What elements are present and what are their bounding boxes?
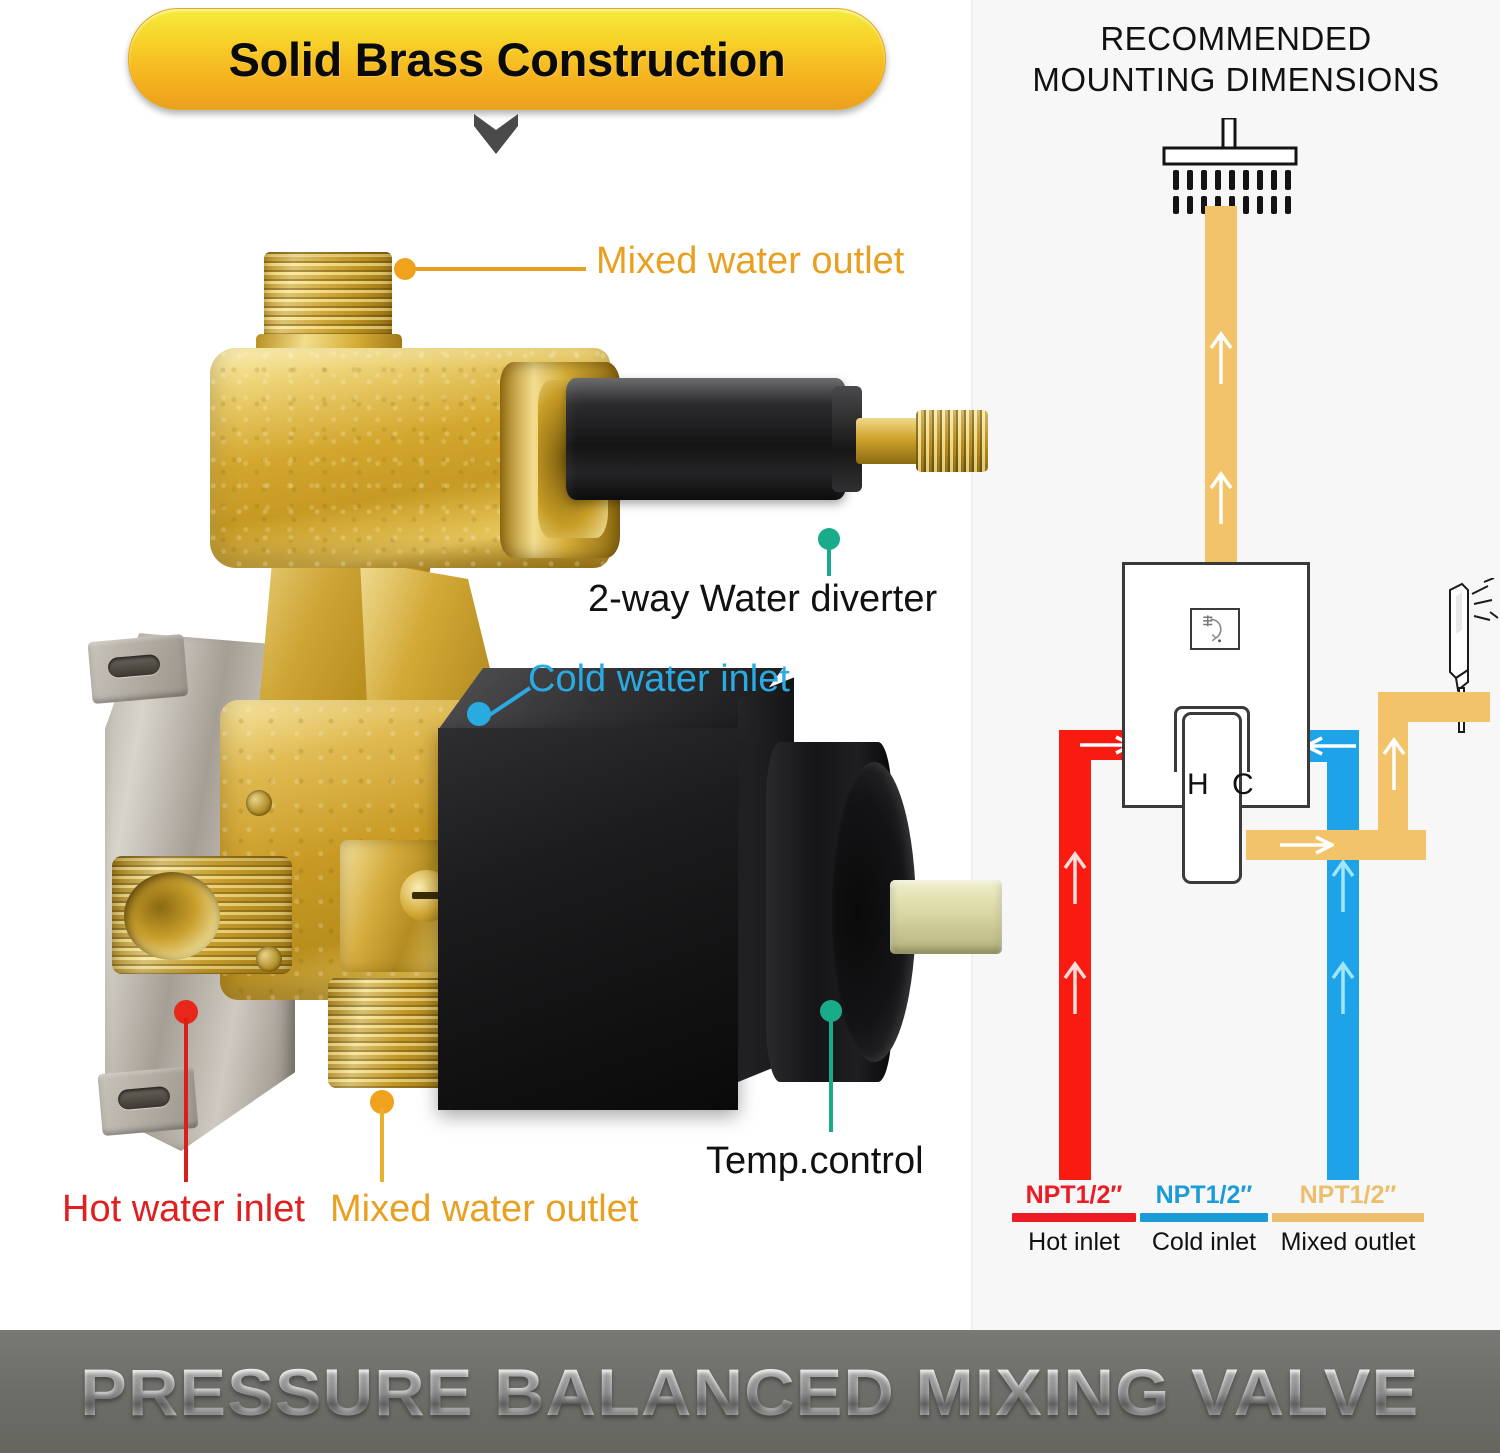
flow-arrow-riser-1 bbox=[1207, 330, 1235, 386]
legend-caption-cold: Cold inlet bbox=[1140, 1227, 1268, 1257]
callout-dot-mixed-outlet-top bbox=[394, 258, 416, 280]
top-outlet-thread bbox=[264, 252, 392, 344]
diverter-icon bbox=[1190, 608, 1240, 650]
callout-leader-mixed-outlet-top bbox=[414, 267, 586, 271]
pipe-hot-vertical bbox=[1059, 730, 1091, 1180]
callout-leader-temp-control bbox=[829, 1018, 833, 1132]
diverter-splined-shaft bbox=[916, 410, 988, 472]
legend-bar-hot bbox=[1012, 1213, 1136, 1222]
callout-label-mixed-outlet-top: Mixed water outlet bbox=[596, 240, 904, 283]
badge-label: Solid Brass Construction bbox=[229, 32, 786, 87]
callout-label-cold-inlet: Cold water inlet bbox=[528, 658, 790, 701]
legend-size-mixed: NPT1/2″ bbox=[1272, 1180, 1424, 1210]
legend-bar-cold bbox=[1140, 1213, 1268, 1222]
handle-cold-letter: C bbox=[1232, 768, 1254, 802]
legend-caption-hot: Hot inlet bbox=[1012, 1227, 1136, 1257]
flow-arrow-cold-left bbox=[1304, 735, 1358, 757]
flow-arrow-mixed-up bbox=[1380, 736, 1408, 792]
pipe-mixed-upper-horizontal bbox=[1378, 692, 1490, 722]
legend-item-mixed: NPT1/2″ Mixed outlet bbox=[1272, 1180, 1424, 1257]
legend-size-cold: NPT1/2″ bbox=[1140, 1180, 1268, 1210]
chevron-down-icon bbox=[472, 112, 520, 156]
panel-divider bbox=[971, 0, 973, 1330]
solid-brass-badge: Solid Brass Construction bbox=[128, 8, 886, 110]
legend-bar-mixed bbox=[1272, 1213, 1424, 1222]
callout-label-mixed-outlet-bottom: Mixed water outlet bbox=[330, 1188, 638, 1231]
diverter-cartridge bbox=[566, 378, 846, 500]
infographic-root: Solid Brass Construction bbox=[0, 0, 1500, 1453]
rain-shower-head-icon bbox=[1160, 118, 1300, 214]
flow-arrow-hot-up-2 bbox=[1061, 960, 1089, 1016]
callout-label-hot-inlet: Hot water inlet bbox=[62, 1188, 305, 1231]
diverter-stem bbox=[856, 418, 920, 464]
legend-item-hot: NPT1/2″ Hot inlet bbox=[1012, 1180, 1136, 1257]
flow-arrow-cold-up-1 bbox=[1329, 858, 1357, 914]
diagram-title: RECOMMENDED MOUNTING DIMENSIONS bbox=[972, 18, 1500, 100]
callout-leader-mixed-outlet-bottom bbox=[380, 1108, 384, 1182]
legend-caption-mixed: Mixed outlet bbox=[1272, 1227, 1424, 1257]
callout-leader-diverter bbox=[827, 548, 831, 576]
temperature-control-stem bbox=[890, 880, 1002, 954]
hot-inlet-bore bbox=[124, 872, 220, 960]
handle-hot-letter: H bbox=[1187, 768, 1209, 802]
flow-arrow-mixed-right bbox=[1278, 834, 1334, 856]
footer-banner: PRESSURE BALANCED MIXING VALVE bbox=[0, 1330, 1500, 1453]
bottom-mixed-outlet-port bbox=[328, 978, 452, 1088]
bracket-screw-upper bbox=[246, 790, 272, 816]
legend-size-hot: NPT1/2″ bbox=[1012, 1180, 1136, 1210]
flow-arrow-hot-up-1 bbox=[1061, 850, 1089, 906]
diagram-title-line2: MOUNTING DIMENSIONS bbox=[972, 59, 1500, 100]
cartridge-front-face bbox=[438, 728, 738, 1110]
diagram-title-line1: RECOMMENDED bbox=[972, 18, 1500, 59]
footer-title: PRESSURE BALANCED MIXING VALVE bbox=[80, 1354, 1419, 1430]
flow-arrow-riser-2 bbox=[1207, 470, 1235, 526]
callout-leader-cold-inlet bbox=[480, 686, 532, 722]
bracket-screw-lower bbox=[256, 946, 282, 972]
callout-label-diverter: 2-way Water diverter bbox=[588, 578, 937, 621]
flow-arrow-cold-up-2 bbox=[1329, 960, 1357, 1016]
callout-leader-hot-inlet bbox=[184, 1018, 188, 1182]
legend-item-cold: NPT1/2″ Cold inlet bbox=[1140, 1180, 1268, 1257]
callout-label-temp-control: Temp.control bbox=[706, 1140, 924, 1183]
pipe-size-legend: NPT1/2″ Hot inlet NPT1/2″ Cold inlet NPT… bbox=[1012, 1180, 1412, 1270]
callout-dot-diverter bbox=[818, 528, 840, 550]
